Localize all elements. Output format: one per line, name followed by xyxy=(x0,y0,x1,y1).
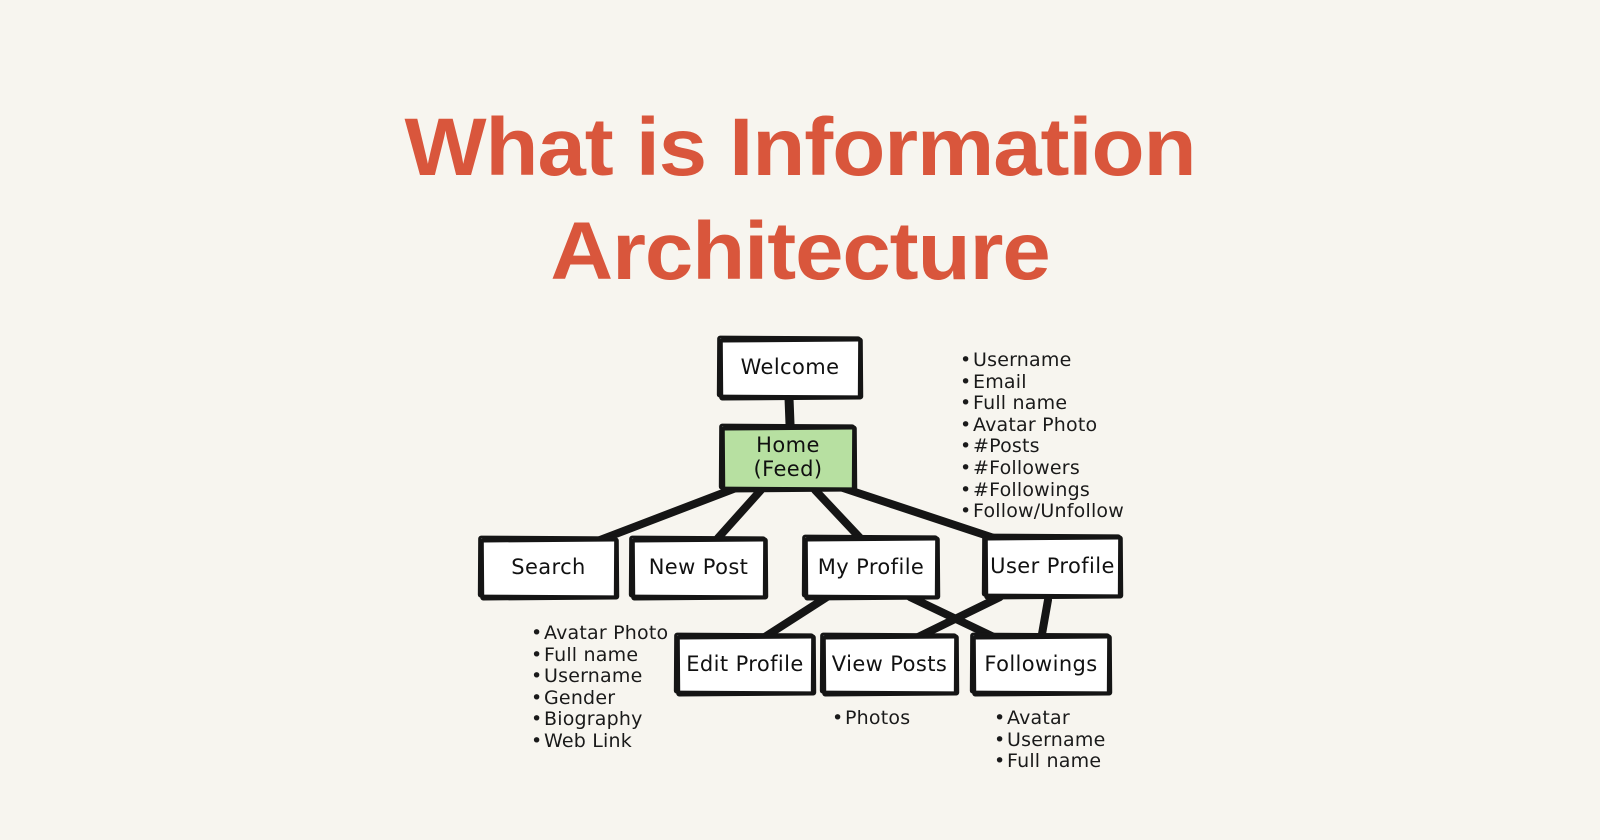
node-user-profile[interactable]: User Profile xyxy=(986,538,1119,595)
node-home-feed-line-1: Home xyxy=(756,433,820,457)
node-view-posts-label: View Posts xyxy=(828,653,951,677)
diagram-connectors xyxy=(0,0,1600,840)
annotation-item: Username xyxy=(960,350,1124,372)
node-user-profile-label: User Profile xyxy=(986,555,1119,579)
annotation-item: Email xyxy=(960,372,1124,394)
annotation-item: Follow/Unfollow xyxy=(960,501,1124,523)
edge-home-my-profile xyxy=(815,490,862,540)
annotation-view-posts-fields: Photos xyxy=(832,708,910,730)
annotation-item: Biography xyxy=(531,709,668,731)
node-view-posts[interactable]: View Posts xyxy=(824,637,955,692)
annotation-item: Full name xyxy=(994,751,1105,773)
node-home-feed-label: Home (Feed) xyxy=(750,434,827,481)
annotation-item: Full name xyxy=(531,645,668,667)
node-new-post[interactable]: New Post xyxy=(633,540,764,596)
node-edit-profile[interactable]: Edit Profile xyxy=(678,637,812,692)
annotation-item: Username xyxy=(531,666,668,688)
node-followings-label: Followings xyxy=(980,653,1101,677)
annotation-edit-profile-fields: Avatar Photo Full name Username Gender B… xyxy=(531,623,668,753)
edge-user-profile-followings xyxy=(1042,600,1048,634)
edge-home-search xyxy=(600,488,736,540)
annotation-item: #Posts xyxy=(960,436,1124,458)
node-search[interactable]: Search xyxy=(482,540,615,596)
annotation-item: #Followers xyxy=(960,458,1124,480)
annotation-item: Photos xyxy=(832,708,910,730)
node-followings[interactable]: Followings xyxy=(974,637,1108,692)
annotation-item: #Followings xyxy=(960,480,1124,502)
node-welcome-label: Welcome xyxy=(737,356,844,380)
edge-home-new-post xyxy=(718,490,761,538)
node-home-feed-line-2: (Feed) xyxy=(754,457,823,481)
node-my-profile[interactable]: My Profile xyxy=(806,539,936,596)
annotation-item: Gender xyxy=(531,688,668,710)
information-architecture-diagram: Welcome Home (Feed) Search New Post My P… xyxy=(0,0,1600,840)
edge-welcome-home xyxy=(789,398,790,424)
annotation-item: Avatar xyxy=(994,708,1105,730)
node-home-feed[interactable]: Home (Feed) xyxy=(723,428,853,488)
annotation-user-profile-fields: Username Email Full name Avatar Photo #P… xyxy=(960,350,1124,523)
node-new-post-label: New Post xyxy=(645,556,753,580)
annotation-item: Avatar Photo xyxy=(960,415,1124,437)
node-edit-profile-label: Edit Profile xyxy=(682,653,807,677)
annotation-item: Web Link xyxy=(531,731,668,753)
annotation-item: Username xyxy=(994,730,1105,752)
node-search-label: Search xyxy=(507,556,590,580)
node-welcome[interactable]: Welcome xyxy=(721,340,859,396)
annotation-followings-fields: Avatar Username Full name xyxy=(994,708,1105,773)
annotation-item: Full name xyxy=(960,393,1124,415)
node-my-profile-label: My Profile xyxy=(814,556,929,580)
annotation-item: Avatar Photo xyxy=(531,623,668,645)
